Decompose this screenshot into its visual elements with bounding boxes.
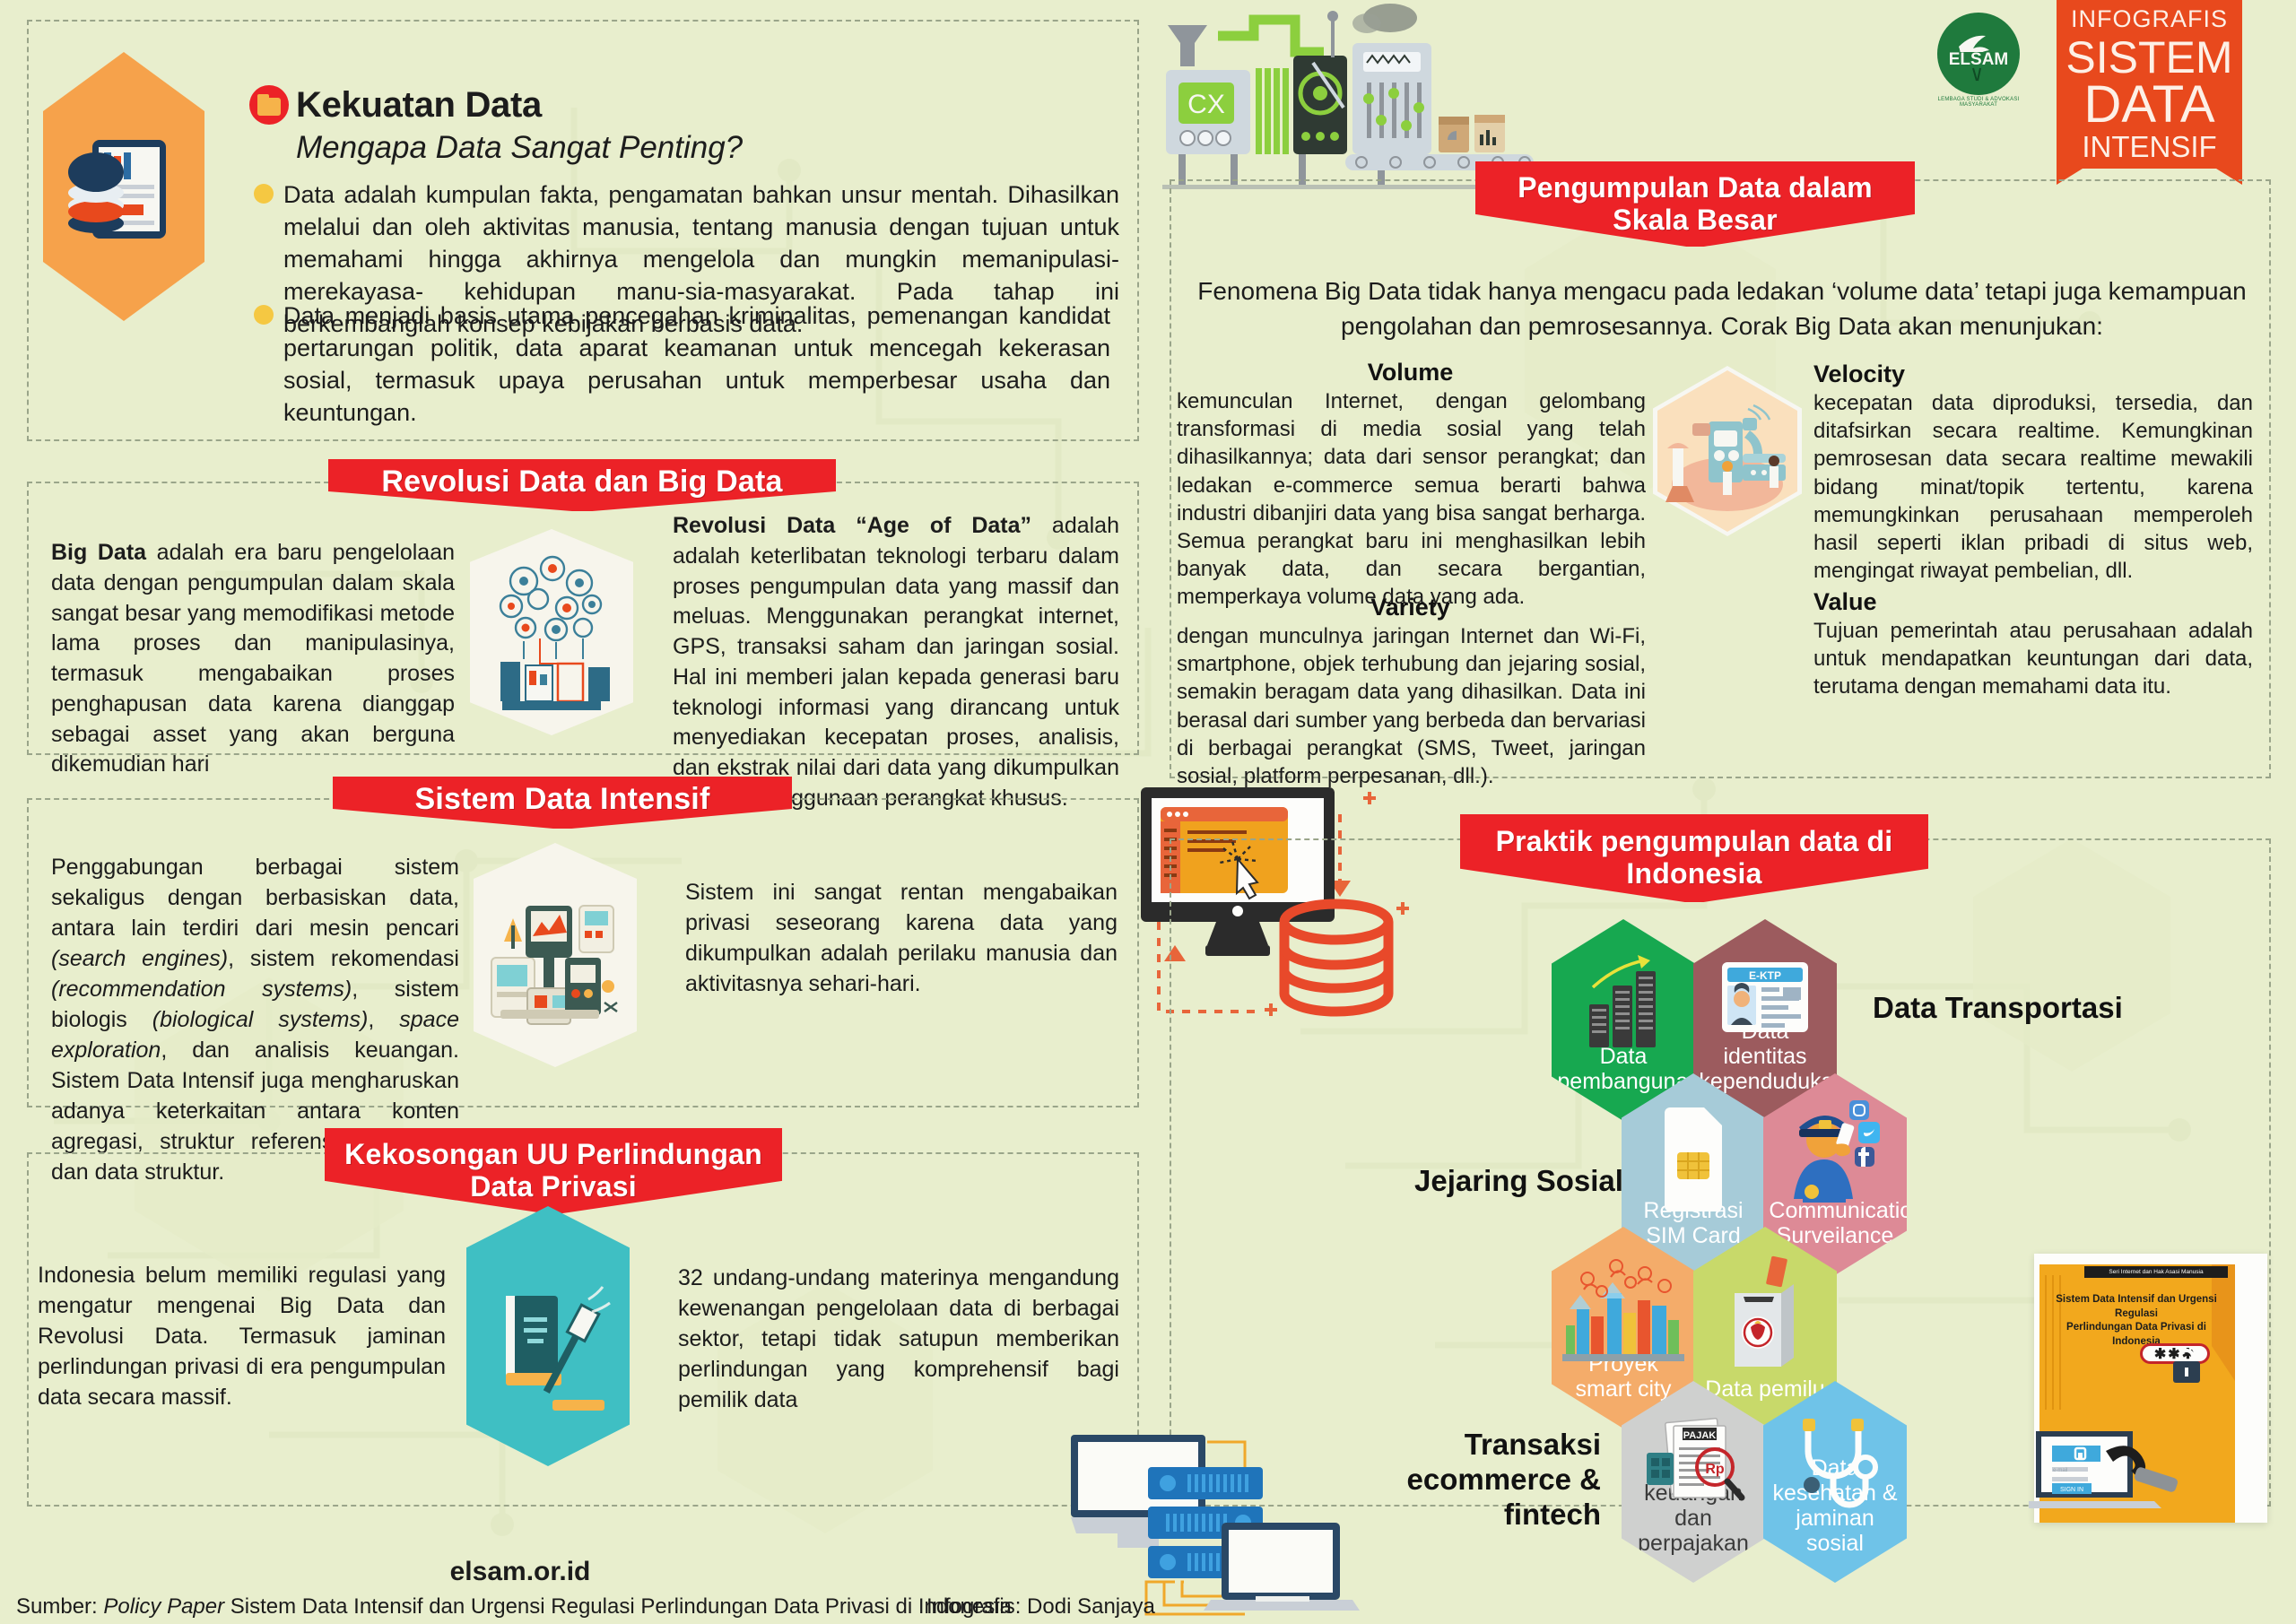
kekuatan-data-illustration xyxy=(43,52,204,321)
label-transaksi-l3: fintech xyxy=(1395,1498,1601,1533)
volume-body: kemunculan Internet, dengan gelombang tr… xyxy=(1177,387,1646,612)
footer-source: Sumber: Policy Paper Sistem Data Intensi… xyxy=(16,1594,1012,1620)
padlock-icon xyxy=(2173,1349,2200,1383)
revolusi-left-body: adalah era baru pengelolaan data dengan … xyxy=(51,540,455,777)
footer-source-italic: Policy Paper xyxy=(103,1594,224,1619)
velocity-title: Velocity xyxy=(1813,360,1905,388)
label-transaksi-l1: Transaksi xyxy=(1395,1428,1601,1463)
intensif-left-1: Penggabungan berbagai sistem sekaligus d… xyxy=(51,855,459,941)
revolusi-right-text: Revolusi Data “Age of Data” adalah adala… xyxy=(673,511,1119,814)
ektp-label: E-KTP xyxy=(1749,969,1781,982)
intensif-it-3: (biological systems) xyxy=(152,1007,369,1032)
variety-title: Variety xyxy=(1175,594,1646,621)
infographic-page: Kekuatan Data Mengapa Data Sangat Pentin… xyxy=(0,0,2296,1624)
footer-site[interactable]: elsam.or.id xyxy=(395,1557,646,1587)
folder-icon xyxy=(249,85,289,125)
banner-praktik-l2: Indonesia xyxy=(1626,858,1761,890)
footer-source-rest: Sistem Data Intensif dan Urgensi Regulas… xyxy=(224,1594,1012,1619)
header-line-intensif: INTENSIF xyxy=(2082,131,2216,163)
banner-pengumpulan-l2: Skala Besar xyxy=(1613,204,1778,237)
intensif-it-1: (search engines) xyxy=(51,946,228,971)
banner-kekosongan-l2: Data Privasi xyxy=(470,1171,637,1203)
banner-kekosongan-l1: Kekosongan UU Perlindungan xyxy=(344,1139,762,1171)
machine-cx-label: CX xyxy=(1187,90,1225,119)
kekosongan-illustration-hex xyxy=(466,1206,630,1466)
intensif-right-text: Sistem ini sangat rentan mengabaikan pri… xyxy=(685,877,1118,999)
revolusi-left-text: Big Data adalah era baru pengelolaan dat… xyxy=(51,538,455,780)
revolusi-left-lead: Big Data xyxy=(51,540,146,565)
book-title: Sistem Data Intensif dan Urgensi Regulas… xyxy=(2047,1293,2226,1349)
header-title-block: INFOGRAFIS SISTEM DATA INTENSIF xyxy=(2057,0,2242,169)
velocity-body: kecepatan data diproduksi, tersedia, dan… xyxy=(1813,389,2253,585)
revolusi-right-lead: Revolusi Data “Age of Data” xyxy=(673,513,1031,538)
label-data-transportasi: Data Transportasi xyxy=(1873,991,2123,1025)
banner-revolusi-data-text: Revolusi Data dan Big Data xyxy=(381,465,782,499)
footer-source-prefix: Sumber: xyxy=(16,1594,103,1619)
intensif-it-2: (recommendation systems) xyxy=(51,977,352,1002)
kekosongan-right-text: 32 undang-undang materinya mengandung ke… xyxy=(678,1263,1119,1415)
volume-title: Volume xyxy=(1175,359,1646,386)
bullet-dot-2 xyxy=(254,305,274,325)
volume-illustration-hex xyxy=(1653,366,1802,536)
kekosongan-left-text: Indonesia belum memiliki regulasi yang m… xyxy=(38,1260,446,1412)
rupiah-label: Rp xyxy=(1705,1462,1725,1477)
banner-pengumpulan-l1: Pengumpulan Data dalam xyxy=(1518,172,1873,204)
page-subtitle: Mengapa Data Sangat Penting? xyxy=(296,130,743,166)
bullet-dot-1 xyxy=(254,184,274,204)
variety-body: dengan munculnya jaringan Internet dan W… xyxy=(1177,622,1646,790)
footer-credit: Infografis: Dodi Sanjaya xyxy=(926,1594,1155,1620)
label-transaksi-ecommerce: Transaksi ecommerce & fintech xyxy=(1395,1428,1601,1533)
label-jejaring-sosial: Jejaring Sosial xyxy=(1414,1164,1623,1198)
intensif-illustration-hex xyxy=(474,843,637,1067)
kekuatan-bullet-2: Data menjadi basis utama pencegahan krim… xyxy=(283,300,1110,430)
elsam-logo-tagline: LEMBAGA STUDI & ADVOKASI MASYARAKAT xyxy=(1937,97,2020,108)
book-cover: Seri Internet dan Hak Asasi Manusia Sist… xyxy=(2034,1254,2267,1523)
header-line-sistem: SISTEM xyxy=(2066,37,2232,80)
book-series-strip: Seri Internet dan Hak Asasi Manusia xyxy=(2084,1266,2228,1278)
banner-sistem-text: Sistem Data Intensif xyxy=(415,782,710,816)
book-signin-label: SIGN IN xyxy=(2060,1487,2083,1493)
book-title-l1: Sistem Data Intensif dan Urgensi Regulas… xyxy=(2047,1293,2226,1321)
value-body: Tujuan pemerintah atau perusahaan adalah… xyxy=(1813,617,2253,701)
page-title: Kekuatan Data xyxy=(296,85,542,126)
value-title: Value xyxy=(1813,588,1877,616)
book-email-label: e-mail xyxy=(2053,1468,2067,1473)
pajak-label: PAJAK xyxy=(1683,1430,1717,1441)
elsam-logo-wordmark: ELSAM xyxy=(1949,50,2009,69)
intensif-left-2: , sistem rekomendasi xyxy=(228,946,459,971)
pengumpulan-intro: Fenomena Big Data tidak hanya mengacu pa… xyxy=(1193,274,2251,343)
header-line-data: DATA xyxy=(2083,80,2214,129)
revolusi-illustration-hex xyxy=(470,529,633,735)
intensif-left-4: , xyxy=(368,1007,399,1032)
header-kicker: INFOGRAFIS xyxy=(2071,5,2228,33)
revolusi-right-body: adalah adalah keterlibatan teknologi ter… xyxy=(673,513,1119,811)
banner-praktik-l1: Praktik pengumpulan data di xyxy=(1496,826,1893,858)
book-laptop-illustration: e-mail SIGN IN xyxy=(2029,1426,2186,1523)
elsam-logo: ELSAM xyxy=(1937,13,2020,95)
label-transaksi-l2: ecommerce & xyxy=(1395,1463,1601,1498)
